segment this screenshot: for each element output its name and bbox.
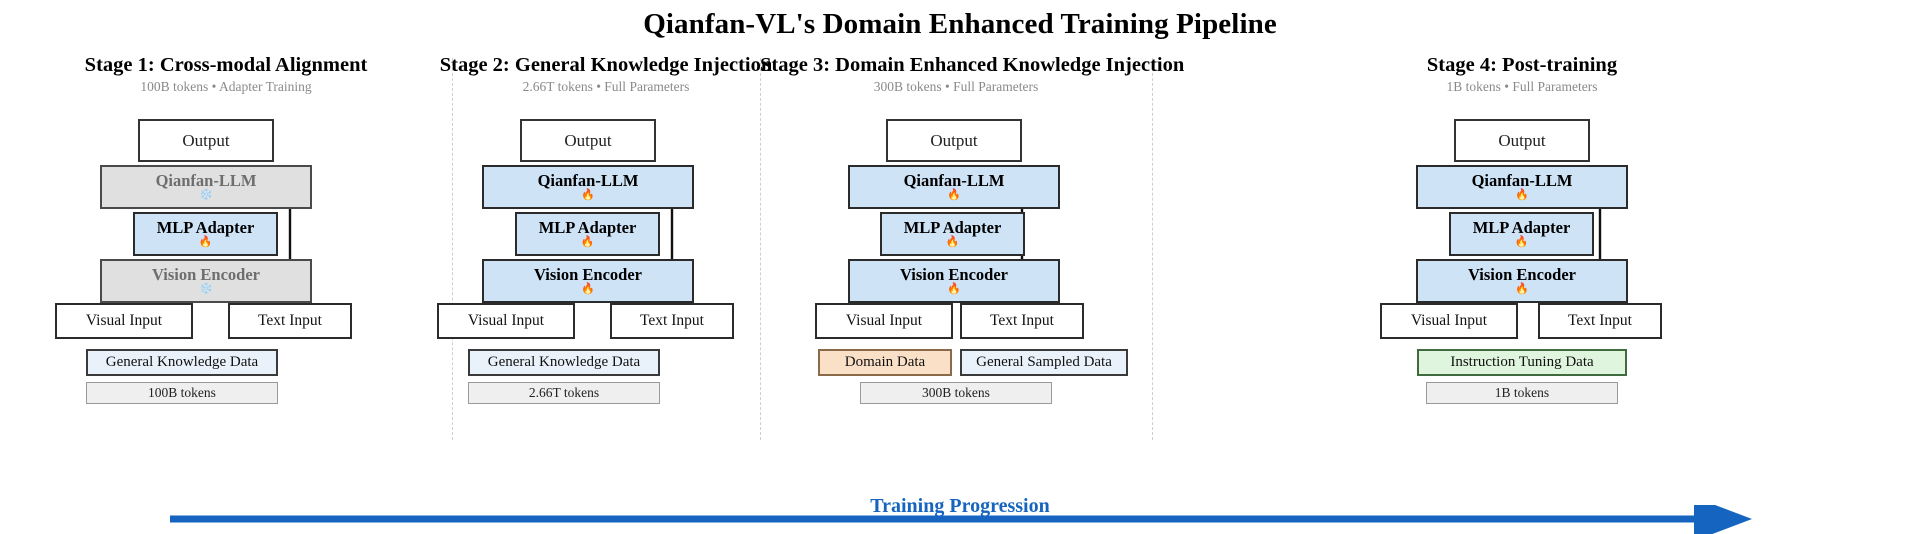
stage-1-output-box: Output [138,119,274,162]
stage-4-vision-label: Vision Encoder [1468,267,1576,284]
stage-1-adapter-label: MLP Adapter [157,220,255,237]
stage-3-visual-input-label: Visual Input [846,313,922,329]
stage-4-text-input-box: Text Input [1538,303,1662,339]
fire-icon: 🔥 [947,284,961,295]
stage-2-vision-label: Vision Encoder [534,267,642,284]
stage-1-text-input-box: Text Input [228,303,352,339]
stage-4-title: Stage 4: Post-training [1152,54,1892,77]
stage-3-domain-data-label: Domain Data [845,355,925,370]
stage-2-llm-box: Qianfan-LLM 🔥 [482,165,694,209]
stage-3-dataset-box-domain: Domain Data [818,349,952,376]
stage-3-tokens-box: 300B tokens [860,382,1052,404]
stage-3-title: Stage 3: Domain Enhanced Knowledge Injec… [760,54,1152,77]
fire-icon: 🔥 [947,190,961,201]
stage-4-dataset-label: Instruction Tuning Data [1450,355,1593,370]
fire-icon: 🔥 [199,237,213,248]
stage-3-visual-input-box: Visual Input [815,303,953,339]
stage-4-tokens-label: 1B tokens [1495,386,1549,400]
stage-2-adapter-label: MLP Adapter [539,220,637,237]
stage-2-title: Stage 2: General Knowledge Injection [412,54,800,77]
stage-2-output-box: Output [520,119,656,162]
stage-2-text-input-box: Text Input [610,303,734,339]
stage-1-subtitle: 100B tokens • Adapter Training [0,79,452,95]
stage-3-general-data-label: General Sampled Data [976,355,1112,370]
stage-3-subtitle: 300B tokens • Full Parameters [760,79,1152,95]
stage-2-vision-box: Vision Encoder 🔥 [482,259,694,303]
stage-1-llm-box: Qianfan-LLM ❄️ [100,165,312,209]
stage-4: Stage 4: Post-training 1B tokens • Full … [1152,54,1920,474]
stage-2-subtitle: 2.66T tokens • Full Parameters [412,79,800,95]
stage-3-output-box: Output [886,119,1022,162]
stage-2-llm-label: Qianfan-LLM [538,173,639,190]
stage-3-vision-box: Vision Encoder 🔥 [848,259,1060,303]
stage-2-dataset-box: General Knowledge Data [468,349,660,376]
fire-icon: 🔥 [581,237,595,248]
stage-1-vision-box: Vision Encoder ❄️ [100,259,312,303]
stage-2: Stage 2: General Knowledge Injection 2.6… [452,54,760,474]
stage-2-tokens-label: 2.66T tokens [529,386,599,400]
stage-4-vision-box: Vision Encoder 🔥 [1416,259,1628,303]
stage-4-dataset-box: Instruction Tuning Data [1417,349,1627,376]
stage-4-adapter-label: MLP Adapter [1473,220,1571,237]
diagram-canvas: Qianfan-VL's Domain Enhanced Training Pi… [0,0,1920,534]
stage-4-output-label: Output [1498,132,1545,149]
stage-2-tokens-box: 2.66T tokens [468,382,660,404]
stage-2-dataset-label: General Knowledge Data [488,355,640,370]
fire-icon: 🔥 [581,284,595,295]
stage-3-adapter-label: MLP Adapter [904,220,1002,237]
stage-1-tokens-label: 100B tokens [148,386,216,400]
stage-3-llm-label: Qianfan-LLM [904,173,1005,190]
stage-1-title: Stage 1: Cross-modal Alignment [0,54,452,77]
stage-4-output-box: Output [1454,119,1590,162]
stage-3-text-input-box: Text Input [960,303,1084,339]
stage-2-adapter-box: MLP Adapter 🔥 [515,212,660,256]
fire-icon: 🔥 [1515,190,1529,201]
stage-2-visual-input-box: Visual Input [437,303,575,339]
stage-1: Stage 1: Cross-modal Alignment 100B toke… [0,54,452,474]
progression-arrow [0,505,1920,534]
stage-1-adapter-box: MLP Adapter 🔥 [133,212,278,256]
stage-1-dataset-box: General Knowledge Data [86,349,278,376]
stage-3-vision-label: Vision Encoder [900,267,1008,284]
snowflake-icon: ❄️ [199,284,213,295]
stage-1-text-input-label: Text Input [258,313,322,329]
stage-1-visual-input-label: Visual Input [86,313,162,329]
stage-1-vision-label: Vision Encoder [152,267,260,284]
stage-1-llm-label: Qianfan-LLM [156,173,257,190]
snowflake-icon: ❄️ [199,190,213,201]
page-title: Qianfan-VL's Domain Enhanced Training Pi… [0,8,1920,41]
fire-icon: 🔥 [1515,237,1529,248]
stage-3-llm-box: Qianfan-LLM 🔥 [848,165,1060,209]
stage-2-output-label: Output [564,132,611,149]
stage-4-visual-input-label: Visual Input [1411,313,1487,329]
stage-1-visual-input-box: Visual Input [55,303,193,339]
fire-icon: 🔥 [946,237,960,248]
stage-4-llm-box: Qianfan-LLM 🔥 [1416,165,1628,209]
stage-1-tokens-box: 100B tokens [86,382,278,404]
stage-1-output-label: Output [182,132,229,149]
stage-2-text-input-label: Text Input [640,313,704,329]
stage-4-text-input-label: Text Input [1568,313,1632,329]
stage-4-tokens-box: 1B tokens [1426,382,1618,404]
stage-4-subtitle: 1B tokens • Full Parameters [1152,79,1892,95]
stage-3: Stage 3: Domain Enhanced Knowledge Injec… [760,54,1152,474]
stage-3-text-input-label: Text Input [990,313,1054,329]
stage-1-dataset-label: General Knowledge Data [106,355,258,370]
stage-3-output-label: Output [930,132,977,149]
fire-icon: 🔥 [581,190,595,201]
stage-3-adapter-box: MLP Adapter 🔥 [880,212,1025,256]
stage-3-tokens-label: 300B tokens [922,386,990,400]
stage-4-visual-input-box: Visual Input [1380,303,1518,339]
stage-3-dataset-box-general: General Sampled Data [960,349,1128,376]
fire-icon: 🔥 [1515,284,1529,295]
stage-4-llm-label: Qianfan-LLM [1472,173,1573,190]
stage-2-visual-input-label: Visual Input [468,313,544,329]
stage-4-adapter-box: MLP Adapter 🔥 [1449,212,1594,256]
